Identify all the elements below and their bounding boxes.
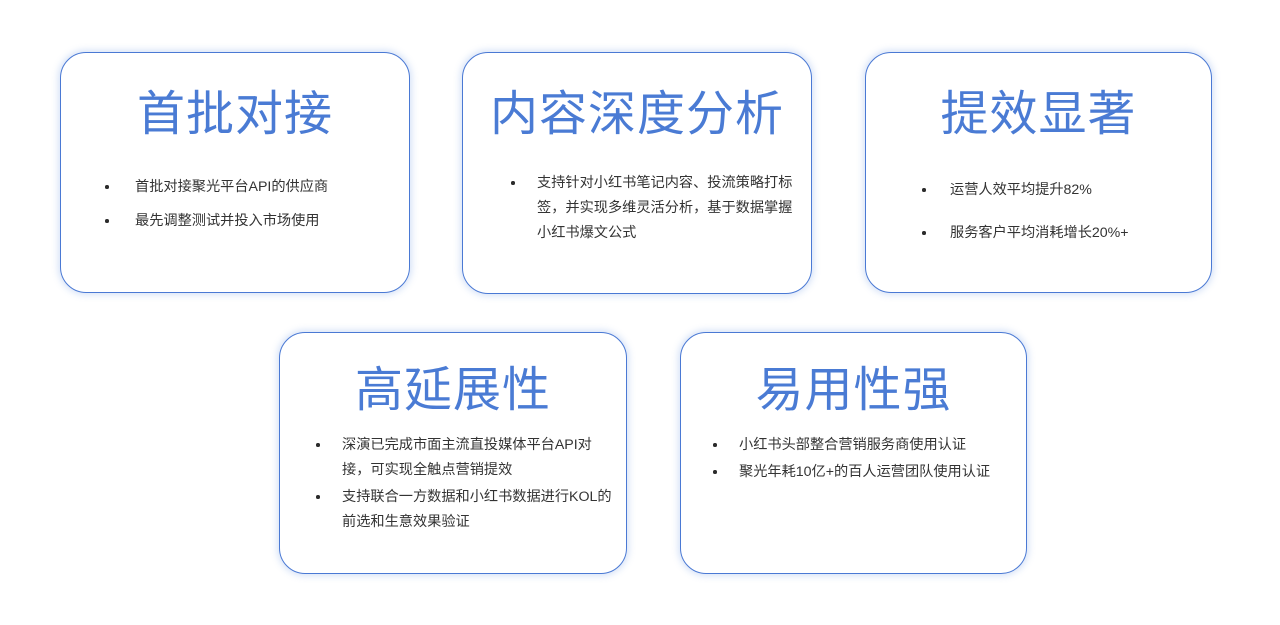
card-bullet-list: 深演已完成市面主流直投媒体平台API对接，可实现全触点营销提效 支持联合一方数据… <box>298 433 612 537</box>
list-item-label: 首批对接聚光平台API的供应商 <box>135 175 387 200</box>
list-item-label: 支持联合一方数据和小红书数据进行KOL的前选和生意效果验证 <box>342 485 612 535</box>
card-bullet-list: 首批对接聚光平台API的供应商 最先调整测试并投入市场使用 <box>87 175 387 243</box>
list-item: 聚光年耗10亿+的百人运营团队使用认证 <box>695 460 1014 485</box>
bullet-dot-icon <box>105 219 109 223</box>
list-item-label: 深演已完成市面主流直投媒体平台API对接，可实现全触点营销提效 <box>342 433 612 483</box>
card-bullet-list: 小红书头部整合营销服务商使用认证 聚光年耗10亿+的百人运营团队使用认证 <box>695 433 1014 487</box>
bullet-dot-icon <box>713 470 717 474</box>
card-bullet-list: 支持针对小红书笔记内容、投流策略打标签，并实现多维灵活分析，基于数据掌握小红书爆… <box>493 171 793 246</box>
list-item: 支持联合一方数据和小红书数据进行KOL的前选和生意效果验证 <box>298 485 612 535</box>
list-item-label: 运营人效平均提升82% <box>950 178 1191 203</box>
bullet-dot-icon <box>316 443 320 447</box>
list-item: 支持针对小红书笔记内容、投流策略打标签，并实现多维灵活分析，基于数据掌握小红书爆… <box>493 171 793 246</box>
card-title: 提效显著 <box>866 91 1211 139</box>
feature-card-content-depth-analysis[interactable]: 内容深度分析 支持针对小红书笔记内容、投流策略打标签，并实现多维灵活分析，基于数… <box>462 52 812 294</box>
card-title: 内容深度分析 <box>463 91 811 139</box>
bullet-dot-icon <box>105 185 109 189</box>
list-item: 首批对接聚光平台API的供应商 <box>87 175 387 200</box>
list-item-label: 服务客户平均消耗增长20%+ <box>950 221 1191 246</box>
card-bullet-list: 运营人效平均提升82% 服务客户平均消耗增长20%+ <box>908 178 1191 264</box>
feature-card-first-integration[interactable]: 首批对接 首批对接聚光平台API的供应商 最先调整测试并投入市场使用 <box>60 52 410 293</box>
list-item-label: 最先调整测试并投入市场使用 <box>135 209 387 234</box>
feature-card-significant-efficiency[interactable]: 提效显著 运营人效平均提升82% 服务客户平均消耗增长20%+ <box>865 52 1212 293</box>
slide-canvas: 首批对接 首批对接聚光平台API的供应商 最先调整测试并投入市场使用 内容深度分… <box>0 0 1280 625</box>
bullet-dot-icon <box>922 188 926 192</box>
feature-card-high-extensibility[interactable]: 高延展性 深演已完成市面主流直投媒体平台API对接，可实现全触点营销提效 支持联… <box>279 332 627 574</box>
list-item-label: 支持针对小红书笔记内容、投流策略打标签，并实现多维灵活分析，基于数据掌握小红书爆… <box>537 171 793 246</box>
card-title: 易用性强 <box>681 367 1026 415</box>
list-item: 最先调整测试并投入市场使用 <box>87 209 387 234</box>
list-item: 运营人效平均提升82% <box>908 178 1191 203</box>
list-item-label: 聚光年耗10亿+的百人运营团队使用认证 <box>739 460 1014 485</box>
card-title: 首批对接 <box>61 91 409 139</box>
list-item-label: 小红书头部整合营销服务商使用认证 <box>739 433 1014 458</box>
card-title: 高延展性 <box>280 367 626 415</box>
bullet-dot-icon <box>316 495 320 499</box>
feature-card-ease-of-use[interactable]: 易用性强 小红书头部整合营销服务商使用认证 聚光年耗10亿+的百人运营团队使用认… <box>680 332 1027 574</box>
bullet-dot-icon <box>511 181 515 185</box>
bullet-dot-icon <box>922 231 926 235</box>
list-item: 服务客户平均消耗增长20%+ <box>908 221 1191 246</box>
bullet-dot-icon <box>713 443 717 447</box>
list-item: 小红书头部整合营销服务商使用认证 <box>695 433 1014 458</box>
list-item: 深演已完成市面主流直投媒体平台API对接，可实现全触点营销提效 <box>298 433 612 483</box>
